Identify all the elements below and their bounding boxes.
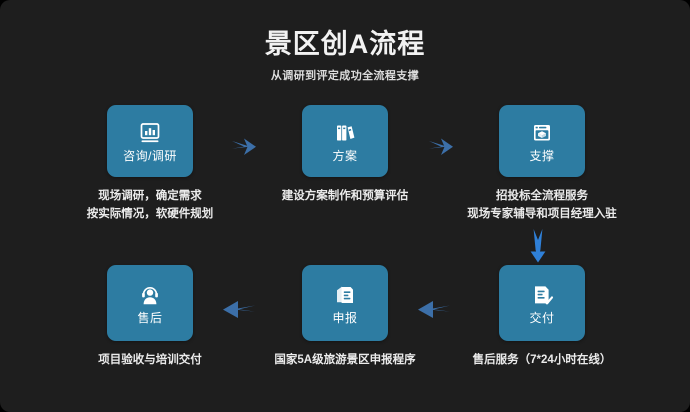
diagram-header: 景区创A流程 从调研到评定成功全流程支撑 — [0, 28, 690, 83]
page-title: 景区创A流程 — [0, 28, 690, 60]
step-card[interactable]: 申报 — [302, 265, 388, 341]
arrow-4-to-5 — [410, 297, 450, 321]
step-label: 支撑 — [529, 150, 554, 162]
step-card[interactable]: 售后 — [107, 265, 193, 341]
step-card[interactable]: 方案 — [302, 105, 388, 177]
step-label: 售后 — [137, 312, 162, 324]
caption-line: 现场专家辅导和项目经理入驻 — [467, 206, 617, 224]
arrow-down-icon — [525, 228, 551, 266]
window-cube-icon — [529, 120, 555, 146]
flow-row-bottom: 售后 项目验收与培训交付 — [0, 265, 690, 395]
caption-line: 招投标全流程服务 — [467, 188, 617, 206]
page-subtitle: 从调研到评定成功全流程支撑 — [0, 67, 690, 83]
step-card[interactable]: 咨询/调研 — [107, 105, 193, 177]
double-chevron-right-icon — [425, 135, 465, 159]
step-caption: 现场调研，确定需求 按实际情况，软硬件规划 — [75, 188, 225, 224]
flow-diagram-canvas: 景区创A流程 从调研到评定成功全流程支撑 咨询/调研 现场调研，确 — [0, 0, 690, 412]
caption-line: 国家5A级旅游景区申报程序 — [270, 352, 420, 370]
caption-line: 按实际情况，软硬件规划 — [75, 206, 225, 224]
arrow-3-to-4 — [525, 228, 551, 266]
arrow-left-icon — [215, 297, 259, 323]
flow-row-top: 咨询/调研 现场调研，确定需求 按实际情况，软硬件规划 — [0, 105, 690, 235]
flow-step-aftersales[interactable]: 售后 项目验收与培训交付 — [75, 265, 225, 370]
bar-chart-icon — [137, 120, 163, 146]
step-label: 方案 — [332, 150, 357, 162]
flow-step-consulting[interactable]: 咨询/调研 现场调研，确定需求 按实际情况，软硬件规划 — [75, 105, 225, 224]
headset-support-icon — [137, 282, 163, 308]
step-caption: 招投标全流程服务 现场专家辅导和项目经理入驻 — [467, 188, 617, 224]
caption-line: 现场调研，确定需求 — [75, 188, 225, 206]
step-card[interactable]: 交付 — [499, 265, 585, 341]
caption-line: 售后服务（7*24小时在线） — [467, 352, 617, 370]
step-caption: 售后服务（7*24小时在线） — [467, 352, 617, 370]
step-label: 申报 — [332, 312, 357, 324]
arrow-2-to-3 — [425, 135, 465, 159]
flow-step-delivery[interactable]: 交付 售后服务（7*24小时在线） — [467, 265, 617, 370]
flow-step-support[interactable]: 支撑 招投标全流程服务 现场专家辅导和项目经理入驻 — [467, 105, 617, 224]
caption-line: 建设方案制作和预算评估 — [270, 188, 420, 206]
arrow-5-to-6 — [215, 297, 255, 321]
books-icon — [332, 120, 358, 146]
double-chevron-right-icon — [228, 135, 268, 159]
step-caption: 建设方案制作和预算评估 — [270, 188, 420, 206]
flow-step-proposal[interactable]: 方案 建设方案制作和预算评估 — [270, 105, 420, 206]
step-label: 咨询/调研 — [123, 150, 177, 162]
step-caption: 项目验收与培训交付 — [75, 352, 225, 370]
arrow-1-to-2 — [228, 135, 268, 159]
documents-stack-icon — [332, 282, 358, 308]
step-caption: 国家5A级旅游景区申报程序 — [270, 352, 420, 370]
caption-line: 项目验收与培训交付 — [75, 352, 225, 370]
arrow-left-icon — [410, 297, 454, 323]
step-label: 交付 — [529, 312, 554, 324]
flow-step-application[interactable]: 申报 国家5A级旅游景区申报程序 — [270, 265, 420, 370]
document-check-icon — [529, 282, 555, 308]
step-card[interactable]: 支撑 — [499, 105, 585, 177]
